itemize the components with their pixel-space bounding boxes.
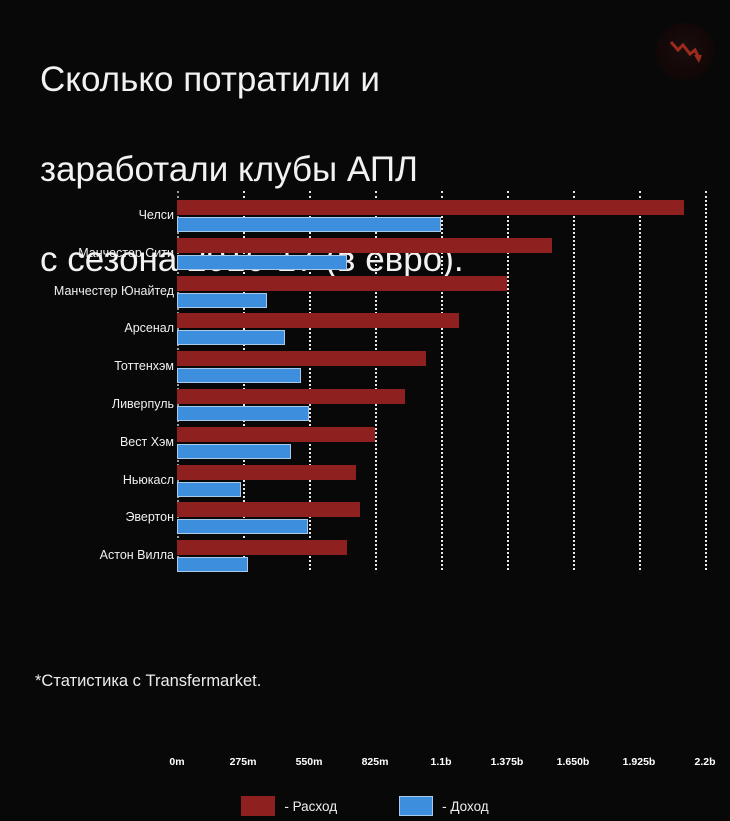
bar-spend[interactable] bbox=[177, 351, 426, 366]
bar-spend[interactable] bbox=[177, 427, 375, 442]
title-line-1: Сколько потратили и bbox=[40, 57, 640, 102]
legend-item-income[interactable]: - Доход bbox=[399, 796, 489, 816]
source-footnote: *Статистика с Transfermarket. bbox=[35, 672, 261, 691]
x-tick-label: 1.1b bbox=[406, 756, 476, 768]
category-label: Эвертон bbox=[0, 510, 174, 524]
category-label: Арсенал bbox=[0, 321, 174, 335]
legend-label-spend: - Расход bbox=[284, 799, 337, 814]
bar-row: Ньюкасл bbox=[0, 464, 730, 502]
bar-income[interactable] bbox=[177, 293, 267, 308]
category-label: Вест Хэм bbox=[0, 435, 174, 449]
legend-label-income: - Доход bbox=[442, 799, 489, 814]
bar-row: Манчестер Сити bbox=[0, 237, 730, 275]
legend-swatch-spend bbox=[241, 796, 275, 816]
bar-row: Эвертон bbox=[0, 501, 730, 539]
x-tick-label: 550m bbox=[274, 756, 344, 768]
bar-row: Манчестер Юнайтед bbox=[0, 275, 730, 313]
bar-income[interactable] bbox=[177, 406, 309, 421]
legend-item-spend[interactable]: - Расход bbox=[241, 796, 337, 816]
chart-legend: - Расход - Доход bbox=[0, 791, 730, 821]
x-tick-label: 825m bbox=[340, 756, 410, 768]
chart-plot-area: ЧелсиМанчестер СитиМанчестер ЮнайтедАрсе… bbox=[0, 185, 730, 585]
x-tick-label: 1.375b bbox=[472, 756, 542, 768]
bar-spend[interactable] bbox=[177, 313, 459, 328]
bar-row: Челси bbox=[0, 199, 730, 237]
declining-arrow-icon bbox=[665, 32, 705, 72]
logo-badge bbox=[656, 23, 714, 81]
category-label: Астон Вилла bbox=[0, 548, 174, 562]
bar-income[interactable] bbox=[177, 217, 441, 232]
bar-spend[interactable] bbox=[177, 389, 405, 404]
bar-row: Астон Вилла bbox=[0, 539, 730, 577]
x-axis-ticks: 0m275m550m825m1.1b1.375b1.650b1.925b2.2b bbox=[0, 756, 730, 780]
bar-income[interactable] bbox=[177, 519, 308, 534]
bar-income[interactable] bbox=[177, 557, 248, 572]
category-label: Тоттенхэм bbox=[0, 359, 174, 373]
category-label: Манчестер Сити bbox=[0, 246, 174, 260]
x-tick-label: 2.2b bbox=[670, 756, 730, 768]
bar-row: Тоттенхэм bbox=[0, 350, 730, 388]
infographic-page: Сколько потратили и заработали клубы АПЛ… bbox=[0, 0, 730, 730]
bar-row: Вест Хэм bbox=[0, 426, 730, 464]
bar-income[interactable] bbox=[177, 330, 285, 345]
category-label: Ливерпуль bbox=[0, 397, 174, 411]
category-label: Манчестер Юнайтед bbox=[0, 284, 174, 298]
bar-income[interactable] bbox=[177, 368, 301, 383]
bar-spend[interactable] bbox=[177, 502, 360, 517]
bar-spend[interactable] bbox=[177, 276, 507, 291]
bar-income[interactable] bbox=[177, 482, 241, 497]
legend-swatch-income bbox=[399, 796, 433, 816]
category-label: Челси bbox=[0, 208, 174, 222]
x-tick-label: 1.650b bbox=[538, 756, 608, 768]
bar-row: Арсенал bbox=[0, 312, 730, 350]
bar-spend[interactable] bbox=[177, 238, 552, 253]
x-tick-label: 0m bbox=[142, 756, 212, 768]
bar-rows: ЧелсиМанчестер СитиМанчестер ЮнайтедАрсе… bbox=[0, 185, 730, 570]
bar-row: Ливерпуль bbox=[0, 388, 730, 426]
x-tick-label: 275m bbox=[208, 756, 278, 768]
category-label: Ньюкасл bbox=[0, 473, 174, 487]
bar-spend[interactable] bbox=[177, 540, 347, 555]
x-tick-label: 1.925b bbox=[604, 756, 674, 768]
bar-spend[interactable] bbox=[177, 465, 356, 480]
header: Сколько потратили и заработали клубы АПЛ… bbox=[0, 0, 730, 185]
bar-income[interactable] bbox=[177, 255, 347, 270]
bar-income[interactable] bbox=[177, 444, 291, 459]
bar-spend[interactable] bbox=[177, 200, 684, 215]
